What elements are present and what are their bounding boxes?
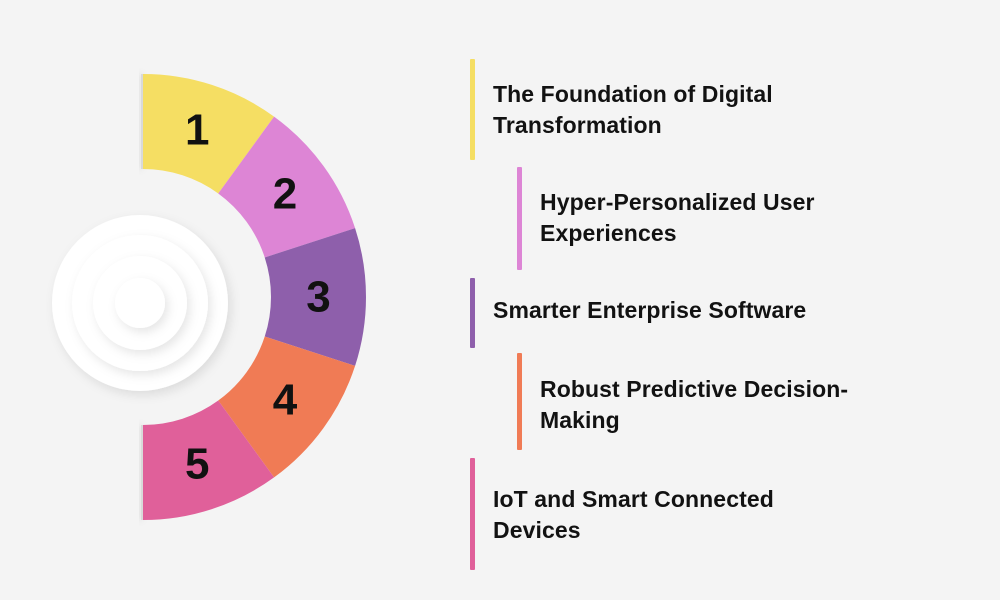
legend-list: The Foundation of Digital Transformation… <box>460 0 1000 600</box>
legend-item-5[interactable]: IoT and Smart Connected Devices <box>470 458 950 570</box>
legend-accent-bar-4 <box>517 353 522 450</box>
legend-label-5: IoT and Smart Connected Devices <box>493 484 853 546</box>
legend-label-1: The Foundation of Digital Transformation <box>493 79 853 141</box>
legend-accent-bar-5 <box>470 458 475 570</box>
donut-step-number-4: 4 <box>273 376 298 425</box>
legend-item-4[interactable]: Robust Predictive Decision-Making <box>517 353 957 450</box>
infographic-canvas: 12345 The Foundation of Digital Transfor… <box>0 0 1000 600</box>
donut-step-number-3: 3 <box>306 273 330 322</box>
legend-accent-bar-2 <box>517 167 522 270</box>
legend-accent-bar-1 <box>470 59 475 160</box>
decorative-ring-4 <box>115 278 165 328</box>
donut-chart-svg: 12345 <box>0 0 440 600</box>
legend-accent-bar-3 <box>470 278 475 348</box>
concentric-rings-decoration <box>52 215 228 391</box>
legend-item-2[interactable]: Hyper-Personalized User Experiences <box>517 167 957 270</box>
legend-label-3: Smarter Enterprise Software <box>493 295 913 326</box>
legend-label-2: Hyper-Personalized User Experiences <box>540 187 900 249</box>
donut-chart: 12345 <box>0 0 440 600</box>
donut-step-number-2: 2 <box>273 169 297 218</box>
donut-step-number-1: 1 <box>185 106 209 155</box>
legend-item-1[interactable]: The Foundation of Digital Transformation <box>470 59 950 160</box>
legend-item-3[interactable]: Smarter Enterprise Software <box>470 278 950 348</box>
donut-step-number-5: 5 <box>185 439 209 488</box>
legend-label-4: Robust Predictive Decision-Making <box>540 374 920 436</box>
